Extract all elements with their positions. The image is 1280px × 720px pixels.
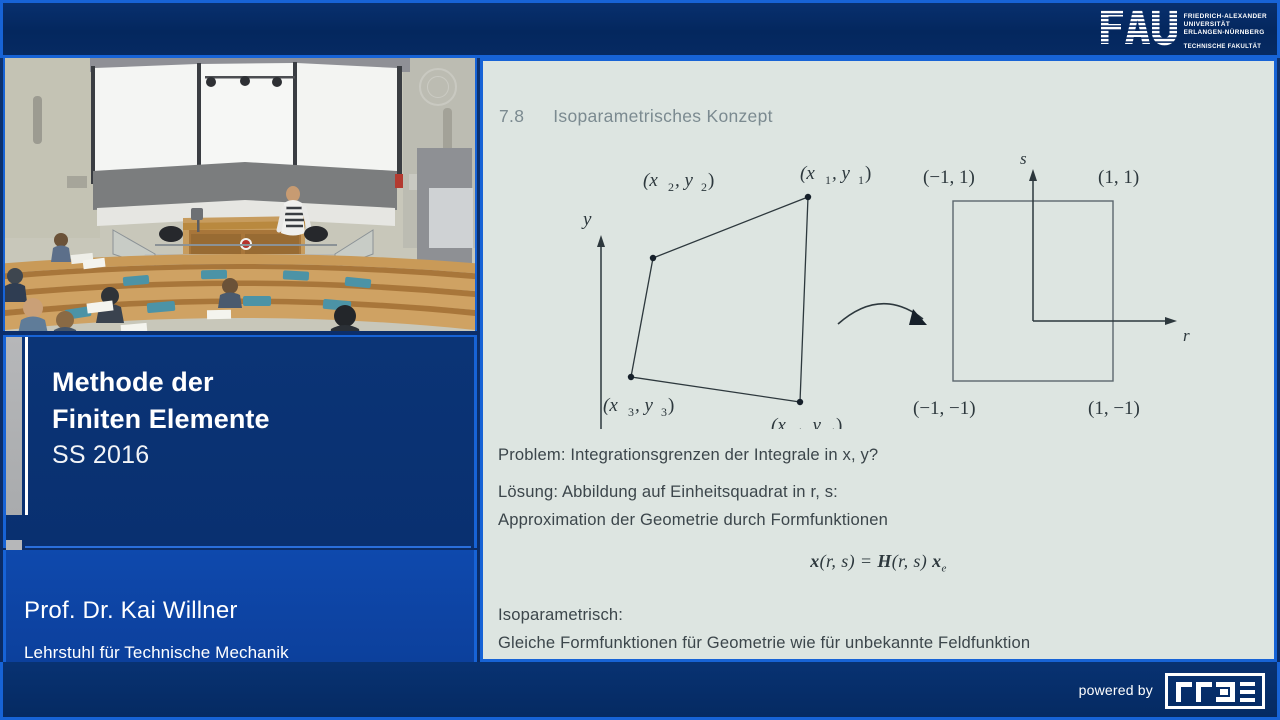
slide-heading: 7.8 Isoparametrisches Konzept bbox=[499, 106, 773, 127]
svg-text:, y: , y bbox=[832, 163, 851, 184]
slide-panel[interactable]: 7.8 Isoparametrisches Konzept bbox=[480, 58, 1277, 662]
svg-text:(x: (x bbox=[771, 415, 786, 429]
svg-text:s: s bbox=[1020, 149, 1027, 168]
svg-text:, y: , y bbox=[635, 395, 654, 416]
slide-section-number: 7.8 bbox=[499, 106, 524, 127]
formula-lhs: x bbox=[810, 551, 819, 571]
course-title: Methode der Finiten Elemente bbox=[52, 364, 270, 438]
player-root: FRIEDRICH-ALEXANDER UNIVERSITÄT ERLANGEN… bbox=[0, 0, 1280, 720]
presenter-chair: Lehrstuhl für Technische Mechanik bbox=[24, 643, 289, 663]
fau-logo-icon bbox=[1099, 8, 1177, 48]
grey-accent-bar bbox=[6, 337, 22, 515]
svg-text:(−1, −1): (−1, −1) bbox=[913, 398, 976, 419]
course-title-line-1: Methode der bbox=[52, 364, 270, 401]
svg-text:y: y bbox=[581, 209, 592, 230]
svg-text:, y: , y bbox=[803, 415, 822, 429]
white-accent-rule bbox=[25, 337, 28, 515]
lecture-hall-video[interactable] bbox=[3, 58, 477, 331]
svg-text:4: 4 bbox=[829, 425, 835, 429]
slide-section-title: Isoparametrisches Konzept bbox=[553, 106, 773, 127]
svg-text:): ) bbox=[836, 415, 842, 429]
svg-text:(x: (x bbox=[603, 395, 618, 416]
slide-tail-text: Isoparametrisch: Gleiche Formfunktionen … bbox=[498, 601, 1268, 657]
svg-text:1: 1 bbox=[825, 173, 831, 187]
isoparametric-formula: x(r, s) = H(r, s) xe bbox=[483, 551, 1274, 575]
university-seal-watermark bbox=[419, 68, 457, 106]
formula-rhs: x bbox=[932, 551, 941, 571]
university-line-1: FRIEDRICH-ALEXANDER bbox=[1184, 13, 1267, 21]
course-term: SS 2016 bbox=[52, 441, 149, 470]
svg-text:2: 2 bbox=[701, 180, 707, 194]
slide-body-text: Problem: Integrationsgrenzen der Integra… bbox=[498, 441, 1258, 534]
formula-matrix: H bbox=[877, 551, 891, 571]
title-divider bbox=[25, 546, 471, 548]
course-title-block: Methode der Finiten Elemente SS 2016 bbox=[3, 335, 477, 548]
svg-text:2: 2 bbox=[668, 180, 674, 194]
svg-text:): ) bbox=[668, 395, 674, 416]
powered-by-label: powered by bbox=[1079, 682, 1153, 698]
tail-line-1: Gleiche Formfunktionen für Geometrie wie… bbox=[498, 629, 1268, 657]
body-line-1: Lösung: Abbildung auf Einheitsquadrat in… bbox=[498, 478, 1258, 506]
svg-text:): ) bbox=[865, 163, 871, 184]
formula-args-2: (r, s) bbox=[892, 551, 927, 571]
grey-accent-bar-lower bbox=[6, 540, 22, 550]
svg-text:3: 3 bbox=[661, 405, 667, 419]
course-title-line-2: Finiten Elemente bbox=[52, 401, 270, 438]
svg-text:4: 4 bbox=[796, 425, 802, 429]
tail-line-0: Isoparametrisch: bbox=[498, 601, 1268, 629]
svg-text:, y: , y bbox=[675, 170, 694, 191]
svg-text:(1, −1): (1, −1) bbox=[1088, 398, 1140, 419]
svg-text:r: r bbox=[1183, 326, 1190, 345]
rrze-logo-icon[interactable] bbox=[1165, 673, 1265, 709]
svg-text:(1, 1): (1, 1) bbox=[1098, 167, 1139, 188]
svg-text:(x: (x bbox=[800, 163, 815, 184]
svg-text:3: 3 bbox=[628, 405, 634, 419]
svg-text:): ) bbox=[708, 170, 714, 191]
page-footer: powered by bbox=[0, 662, 1280, 720]
fau-wordmark: FRIEDRICH-ALEXANDER UNIVERSITÄT ERLANGEN… bbox=[1184, 8, 1267, 50]
page-header: FRIEDRICH-ALEXANDER UNIVERSITÄT ERLANGEN… bbox=[0, 0, 1280, 58]
formula-rhs-subscript: e bbox=[942, 563, 947, 575]
svg-text:1: 1 bbox=[858, 173, 864, 187]
formula-args-1: (r, s) = bbox=[820, 551, 873, 571]
faculty-line: TECHNISCHE FAKULTÄT bbox=[1184, 44, 1267, 50]
fau-logo-block: FRIEDRICH-ALEXANDER UNIVERSITÄT ERLANGEN… bbox=[1099, 8, 1267, 50]
university-line-3: ERLANGEN-NÜRNBERG bbox=[1184, 29, 1267, 37]
left-column: Methode der Finiten Elemente SS 2016 Pro… bbox=[0, 58, 480, 662]
isoparametric-mapping-figure: y x (x 1 , y 1 ) (x 2 , y 2 ) (x 3 , y bbox=[483, 139, 1274, 429]
svg-text:(−1, 1): (−1, 1) bbox=[923, 167, 975, 188]
presenter-name: Prof. Dr. Kai Willner bbox=[24, 597, 238, 625]
svg-text:(x: (x bbox=[643, 170, 658, 191]
body-line-2: Approximation der Geometrie durch Formfu… bbox=[498, 506, 1258, 534]
body-line-0: Problem: Integrationsgrenzen der Integra… bbox=[498, 441, 1258, 469]
